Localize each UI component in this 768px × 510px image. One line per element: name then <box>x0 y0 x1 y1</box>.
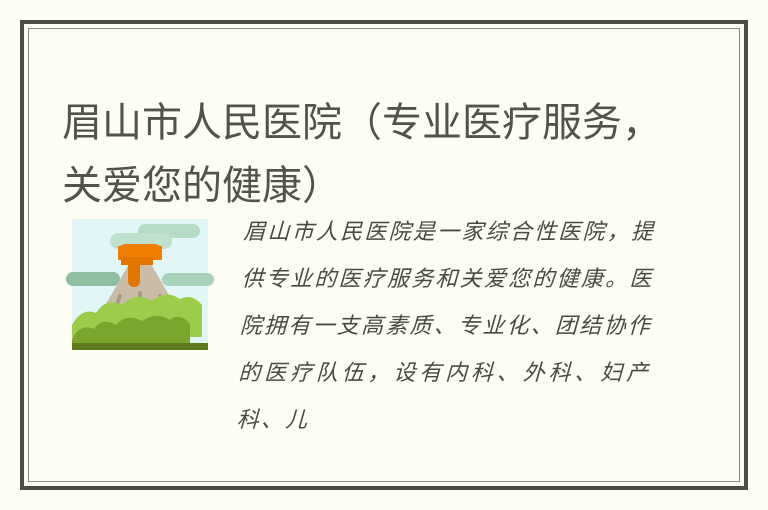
page-title: 眉山市人民医院（专业医疗服务，关爱您的健康） <box>62 92 662 218</box>
cloud-mid-right <box>162 273 214 286</box>
lava-spill <box>121 257 153 265</box>
body-paragraph: 眉山市人民医院是一家综合性医院，提供专业的医疗服务和关爱您的健康。医院拥有一支高… <box>236 209 656 444</box>
content-card: 眉山市人民医院（专业医疗服务，关爱您的健康） <box>20 20 748 490</box>
volcano-icon <box>66 213 214 361</box>
content-card-inner-border: 眉山市人民医院（专业医疗服务，关爱您的健康） <box>28 28 740 482</box>
ground-bar <box>72 343 208 350</box>
content-row: 眉山市人民医院是一家综合性医院，提供专业的医疗服务和关爱您的健康。医院拥有一支高… <box>62 209 729 481</box>
cloud-mid-left <box>66 272 120 286</box>
volcano-illustration <box>66 213 214 361</box>
